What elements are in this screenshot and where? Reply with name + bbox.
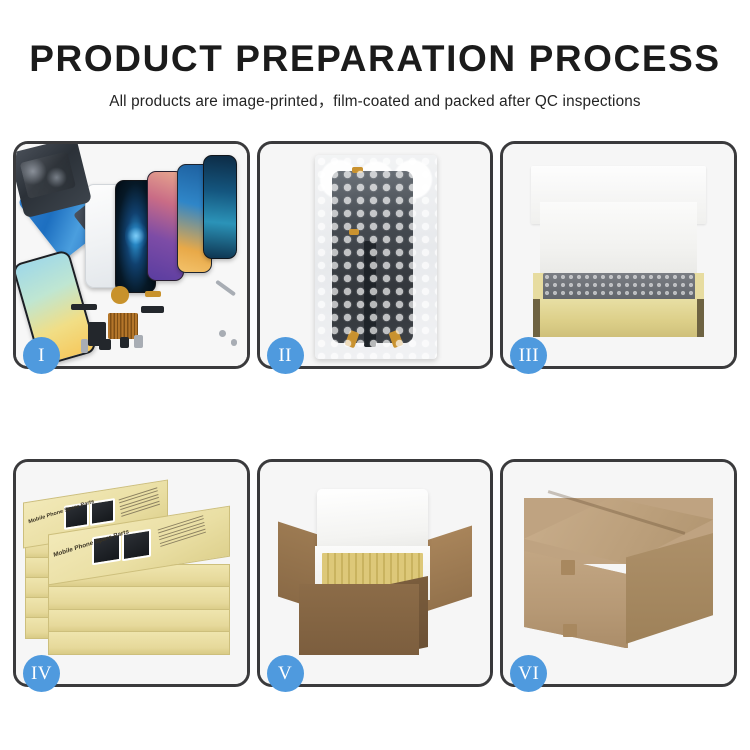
page-title: PRODUCT PREPARATION PROCESS: [0, 40, 750, 79]
step-badge-2: II: [267, 337, 304, 374]
step-5-image: [260, 462, 491, 684]
box-front-wall: [533, 299, 704, 337]
process-step-4: Mobile Phone Spare Parts Mobile Phone Sp…: [13, 459, 250, 687]
part-gold-connector: [145, 291, 161, 298]
process-step-3: III: [500, 141, 737, 369]
part-vibration-motor: [99, 339, 111, 350]
part-flex-cable-right: [141, 306, 164, 313]
part-screw-a: [219, 330, 226, 337]
carton-packing-illustration: [260, 462, 491, 684]
part-button-bracket: [134, 335, 143, 348]
step-3-image: [503, 144, 734, 366]
carton-flap-right: [426, 526, 472, 612]
process-grid: I II: [13, 141, 737, 687]
bubble-wrap-illustration: [260, 144, 491, 366]
page-subtitle: All products are image-printed，film-coat…: [0, 89, 750, 111]
process-step-2: II: [257, 141, 494, 369]
stack-box-r3: [48, 609, 230, 633]
process-step-6: VI: [500, 459, 737, 687]
step-badge-6: VI: [510, 655, 547, 692]
foam-sheet: [540, 202, 697, 277]
step-4-image: Mobile Phone Spare Parts Mobile Phone Sp…: [16, 462, 247, 684]
step-badge-1: I: [23, 337, 60, 374]
carton-front-wall: [299, 584, 419, 655]
step-6-image: [503, 462, 734, 684]
product-preparation-infographic: PRODUCT PREPARATION PROCESS All products…: [0, 0, 750, 750]
stack-box-r2: [48, 586, 230, 610]
part-camera-module: [81, 339, 89, 352]
foam-lid: [317, 489, 428, 551]
open-box-illustration: [503, 144, 734, 366]
teal-swirl-phone: [203, 155, 237, 259]
process-step-5: V: [257, 459, 494, 687]
step-badge-5: V: [267, 655, 304, 692]
carton-tape-upper: [561, 560, 575, 576]
stack-box-r4: [48, 631, 230, 655]
step-1-image: [16, 144, 247, 366]
components-flatlay-illustration: [16, 144, 247, 366]
step-badge-3: III: [510, 337, 547, 374]
stacked-boxes-illustration: Mobile Phone Spare Parts Mobile Phone Sp…: [16, 462, 247, 684]
header: PRODUCT PREPARATION PROCESS All products…: [0, 40, 750, 111]
step-badge-4: IV: [23, 655, 60, 692]
part-speaker-mesh: [71, 304, 96, 310]
sealed-carton-illustration: [503, 462, 734, 684]
part-gold-coil: [111, 286, 129, 304]
bubble-wrap-bag: [315, 155, 437, 359]
step-2-image: [260, 144, 491, 366]
process-step-1: I: [13, 141, 250, 369]
bubble-texture: [315, 155, 437, 359]
part-sim-tray: [120, 337, 129, 348]
carton-tape-lower: [563, 624, 577, 637]
